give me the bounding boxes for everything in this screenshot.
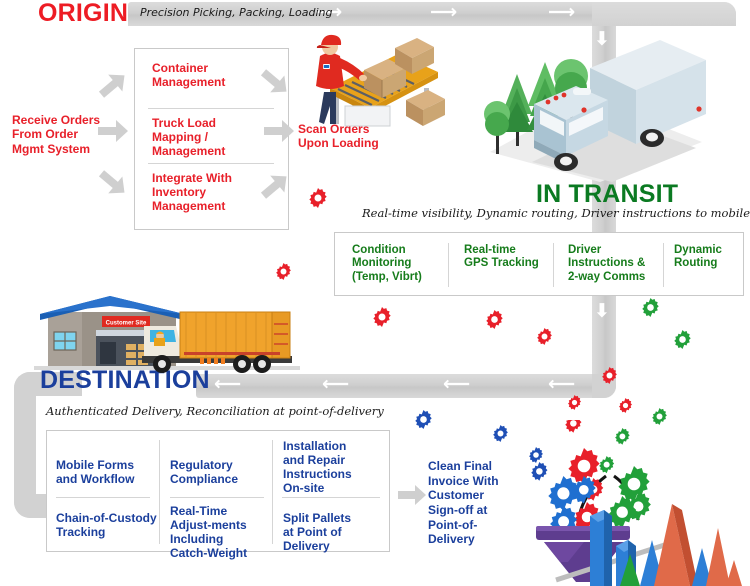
dest-out-line-6: Delivery (428, 532, 524, 547)
gear-icon-red-2 (275, 263, 292, 280)
svg-text:Customer Site: Customer Site (106, 321, 147, 327)
flow-arrow-right-icon-2 (262, 118, 296, 144)
origin-divider-1 (148, 108, 274, 109)
destination-item-2-2: Real-Time Adjust-ments Including Catch-W… (170, 505, 270, 561)
transit-item-1-line-2: Monitoring (352, 257, 447, 270)
transit-item-1: Condition Monitoring (Temp, Vibrt) (352, 244, 447, 284)
dest-1-2-line-2: Tracking (56, 526, 166, 540)
gear-icon-red-1 (308, 188, 328, 208)
dest-2-1-line-2: Compliance (170, 473, 270, 487)
destination-item-1-2: Chain-of-Custody Tracking (56, 512, 166, 540)
gear-icon-red-8 (618, 398, 633, 413)
band-arrow-right-3: ⟶ (548, 3, 575, 22)
top-right-band-corner (592, 2, 736, 26)
transit-divider-1 (448, 243, 449, 287)
destination-divider-h1 (56, 497, 150, 498)
dest-1-1-line-1: Mobile Forms (56, 459, 160, 473)
dest-3-2-line-2: at Point of (283, 526, 383, 540)
in-transit-subtitle: Real-time visibility, Dynamic routing, D… (362, 206, 750, 220)
diagram-canvas: ⟶ ⟶ ⟶ ⬇ ⬇ ⟵ ⟵ ⟵ ⟵ ⬇ ⬇ ORIGIN Precision P… (0, 0, 750, 586)
transit-item-2-line-2: GPS Tracking (464, 257, 559, 270)
dest-1-1-line-2: and Workflow (56, 473, 160, 487)
dest-3-2-line-3: Delivery (283, 540, 383, 554)
dest-1-2-line-1: Chain-of-Custody (56, 512, 166, 526)
transit-item-3-line-3: 2-way Comms (568, 271, 668, 284)
dest-2-1-line-1: Regulatory (170, 459, 270, 473)
destination-subtitle: Authenticated Delivery, Reconciliation a… (46, 404, 384, 418)
dest-3-1-line-3: Instructions (283, 468, 383, 482)
destination-item-1-1: Mobile Forms and Workflow (56, 459, 160, 487)
gears-funnel-charts-illustration (520, 420, 750, 586)
flow-arrow-up-right-icon (96, 70, 130, 100)
worker-scanning-boxes-illustration (312, 26, 464, 136)
destination-output-label: Clean Final Invoice With Customer Sign-o… (428, 459, 524, 547)
transit-item-4-line-2: Routing (674, 257, 744, 270)
dest-2-2-line-4: Catch-Weight (170, 547, 270, 561)
warehouse-container-truck-illustration: Customer Site (34, 290, 300, 378)
destination-divider-v2 (272, 440, 273, 544)
dest-2-2-line-1: Real-Time (170, 505, 270, 519)
transit-item-3-line-1: Driver (568, 244, 668, 257)
destination-item-3-2: Split Pallets at Point of Delivery (283, 512, 383, 554)
gear-icon-red-4 (485, 310, 504, 329)
gear-icon-green-2 (673, 330, 692, 349)
gear-icon-red-7 (567, 395, 582, 410)
dest-out-line-4: Sign-off at (428, 503, 524, 518)
flow-arrow-down-right-icon-2 (258, 66, 292, 98)
transit-item-3: Driver Instructions & 2-way Comms (568, 244, 668, 284)
dest-out-line-5: Point-of- (428, 518, 524, 533)
origin-divider-2 (148, 163, 274, 164)
transit-item-1-line-3: (Temp, Vibrt) (352, 271, 447, 284)
dest-out-line-3: Customer (428, 488, 524, 503)
destination-divider-h3 (282, 497, 380, 498)
origin-output-line-2: Upon Loading (298, 136, 408, 150)
destination-divider-h2 (170, 497, 264, 498)
dest-3-1-line-2: and Repair (283, 454, 383, 468)
transit-item-4-line-1: Dynamic (674, 244, 744, 257)
band-arrow-left-3: ⟵ (443, 375, 470, 394)
flow-arrow-down-right-icon (96, 168, 130, 198)
dest-2-2-line-2: Adjust-ments (170, 519, 270, 533)
dest-out-line-2: Invoice With (428, 474, 524, 489)
dest-3-1-line-4: On-site (283, 482, 383, 496)
gear-icon-red-5 (536, 328, 553, 345)
gear-icon-red-6 (601, 367, 618, 384)
transit-item-1-line-1: Condition (352, 244, 447, 257)
gear-icon-red-3 (372, 307, 392, 327)
destination-item-2-1: Regulatory Compliance (170, 459, 270, 487)
destination-item-3-1: Installation and Repair Instructions On-… (283, 440, 383, 496)
dest-2-2-line-3: Including (170, 533, 270, 547)
band-arrow-down-2: ⬇ (594, 302, 610, 321)
transit-item-4: Dynamic Routing (674, 244, 744, 271)
origin-title: ORIGIN (38, 0, 128, 28)
gear-icon-green-1 (641, 298, 660, 317)
transit-item-3-line-2: Instructions & (568, 257, 668, 270)
dest-out-line-1: Clean Final (428, 459, 524, 474)
origin-item-2-line-3: Management (152, 145, 282, 159)
flow-arrow-right-icon-3 (396, 483, 428, 507)
band-arrow-right-2: ⟶ (430, 3, 457, 22)
flow-arrow-right-icon-1 (96, 118, 130, 144)
delivery-truck-illustration (470, 40, 720, 185)
transit-item-2: Real-time GPS Tracking (464, 244, 559, 271)
band-arrow-left-4: ⟵ (548, 375, 575, 394)
dest-3-2-line-1: Split Pallets (283, 512, 383, 526)
transit-item-2-line-1: Real-time (464, 244, 559, 257)
dest-3-1-line-1: Installation (283, 440, 383, 454)
gear-icon-blue-1 (414, 410, 433, 429)
flow-arrow-up-right-icon-2 (258, 170, 292, 202)
band-arrow-left-2: ⟵ (322, 375, 349, 394)
gear-icon-blue-2 (492, 425, 509, 442)
origin-subtitle: Precision Picking, Packing, Loading (140, 6, 333, 19)
